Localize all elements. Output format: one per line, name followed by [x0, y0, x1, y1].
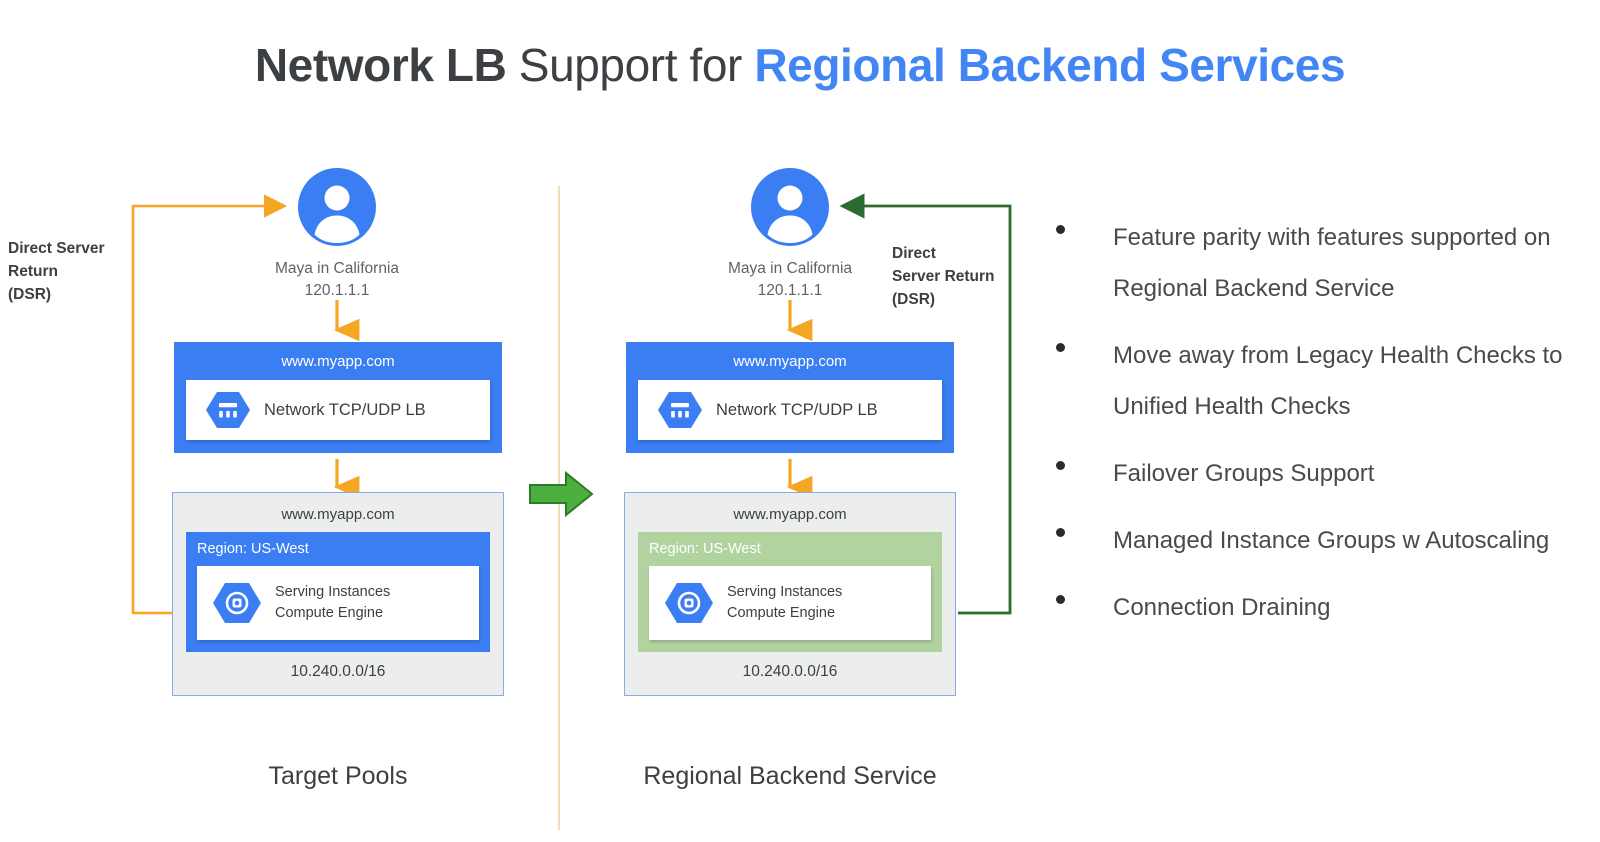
load-balancer-box-right: www.myapp.com Network TCP/UDP LB [626, 342, 954, 453]
page-title-part1: Network LB [255, 39, 507, 91]
feature-bullet-list: Feature parity with features supported o… [1048, 212, 1568, 633]
lb-card-left: Network TCP/UDP LB [186, 380, 490, 440]
region-label-right: Region: US-West [649, 538, 931, 560]
list-item-label: Move away from Legacy Health Checks to U… [1113, 330, 1568, 432]
caption-right: Regional Backend Service [580, 760, 1000, 792]
list-item-label: Managed Instance Groups w Autoscaling [1113, 515, 1549, 566]
user-avatar-icon [751, 168, 829, 246]
caption-left: Target Pools [128, 760, 548, 792]
page-title: Network LB Support for Regional Backend … [0, 36, 1600, 94]
user-caption-right: Maya in California 120.1.1.1 [685, 258, 895, 302]
instance-text-left: Serving Instances Compute Engine [275, 582, 390, 624]
list-item: Failover Groups Support [1048, 448, 1568, 499]
region-label-left: Region: US-West [197, 538, 479, 560]
dsr-label-left: Direct Server Return (DSR) [8, 237, 158, 306]
region-box-left: Region: US-West Serving Instances Comput… [186, 532, 490, 652]
green-right-arrow-icon [528, 470, 594, 518]
network-load-balancer-icon [658, 390, 702, 430]
bullet-dot-icon [1056, 225, 1065, 234]
transition-arrow [528, 470, 594, 523]
bullet-dot-icon [1056, 528, 1065, 537]
slide-canvas: Network LB Support for Regional Backend … [0, 0, 1600, 842]
user-name-left: Maya in California [232, 258, 442, 280]
user-caption-left: Maya in California 120.1.1.1 [232, 258, 442, 302]
bullet-dot-icon [1056, 595, 1065, 604]
user-name-right: Maya in California [685, 258, 895, 280]
page-title-part3: Regional Backend Services [754, 39, 1345, 91]
user-ip-left: 120.1.1.1 [232, 280, 442, 302]
bullet-dot-icon [1056, 461, 1065, 470]
backend-panel-left: www.myapp.com Region: US-West Serving In… [172, 492, 504, 696]
lb-domain-right: www.myapp.com [638, 351, 942, 373]
lb-domain-left: www.myapp.com [186, 351, 490, 373]
lb-card-right: Network TCP/UDP LB [638, 380, 942, 440]
bullet-dot-icon [1056, 343, 1065, 352]
list-item: Feature parity with features supported o… [1048, 212, 1568, 314]
compute-engine-icon [213, 581, 261, 625]
instance-text-right: Serving Instances Compute Engine [727, 582, 842, 624]
list-item-label: Failover Groups Support [1113, 448, 1374, 499]
region-box-right: Region: US-West Serving Instances Comput… [638, 532, 942, 652]
user-avatar-icon [298, 168, 376, 246]
backend-domain-right: www.myapp.com [638, 504, 942, 526]
dsr-label-right: Direct Server Return (DSR) [892, 242, 1042, 311]
backend-cidr-right: 10.240.0.0/16 [638, 661, 942, 683]
page-title-part2: Support for [506, 39, 754, 91]
backend-panel-right: www.myapp.com Region: US-West Serving In… [624, 492, 956, 696]
list-item: Move away from Legacy Health Checks to U… [1048, 330, 1568, 432]
lb-label-left: Network TCP/UDP LB [264, 401, 426, 420]
avatar-right [751, 168, 829, 246]
instance-card-right: Serving Instances Compute Engine [649, 566, 931, 640]
backend-cidr-left: 10.240.0.0/16 [186, 661, 490, 683]
list-item: Managed Instance Groups w Autoscaling [1048, 515, 1568, 566]
list-item-label: Feature parity with features supported o… [1113, 212, 1568, 314]
avatar-left [298, 168, 376, 246]
user-ip-right: 120.1.1.1 [685, 280, 895, 302]
lb-label-right: Network TCP/UDP LB [716, 401, 878, 420]
backend-domain-left: www.myapp.com [186, 504, 490, 526]
network-load-balancer-icon [206, 390, 250, 430]
list-item: Connection Draining [1048, 582, 1568, 633]
list-item-label: Connection Draining [1113, 582, 1330, 633]
load-balancer-box-left: www.myapp.com Network TCP/UDP LB [174, 342, 502, 453]
instance-card-left: Serving Instances Compute Engine [197, 566, 479, 640]
compute-engine-icon [665, 581, 713, 625]
